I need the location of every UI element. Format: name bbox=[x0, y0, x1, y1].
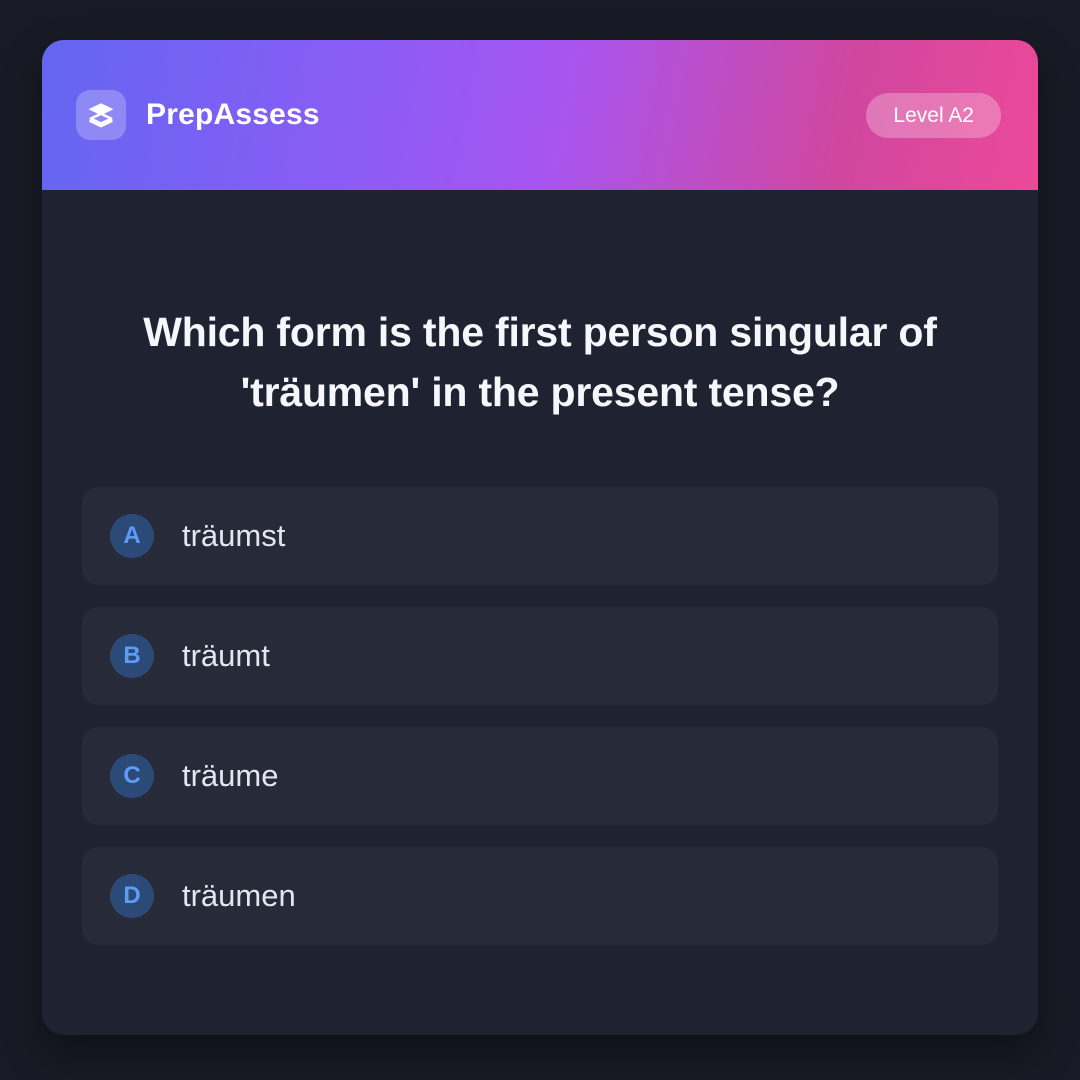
option-letter-badge: D bbox=[110, 874, 154, 918]
option-letter-badge: C bbox=[110, 754, 154, 798]
question-text: Which form is the first person singular … bbox=[90, 302, 990, 423]
option-label: träume bbox=[182, 760, 278, 791]
option-letter-badge: A bbox=[110, 514, 154, 558]
options-list: A träumst B träumt C träume D träumen bbox=[82, 487, 998, 945]
option-letter-badge: B bbox=[110, 634, 154, 678]
card-body: Which form is the first person singular … bbox=[42, 190, 1038, 1035]
option-row[interactable]: B träumt bbox=[82, 607, 998, 705]
app-frame: PrepAssess Level A2 Which form is the fi… bbox=[0, 0, 1080, 1080]
option-row[interactable]: C träume bbox=[82, 727, 998, 825]
option-row[interactable]: A träumst bbox=[82, 487, 998, 585]
layers-icon bbox=[76, 90, 126, 140]
level-badge: Level A2 bbox=[866, 93, 1001, 138]
brand: PrepAssess bbox=[76, 90, 320, 140]
option-label: träumst bbox=[182, 520, 285, 551]
option-label: träumt bbox=[182, 640, 270, 671]
quiz-card: PrepAssess Level A2 Which form is the fi… bbox=[42, 40, 1038, 1035]
card-header: PrepAssess Level A2 bbox=[42, 40, 1038, 190]
brand-name: PrepAssess bbox=[146, 100, 320, 130]
option-label: träumen bbox=[182, 880, 296, 911]
option-row[interactable]: D träumen bbox=[82, 847, 998, 945]
